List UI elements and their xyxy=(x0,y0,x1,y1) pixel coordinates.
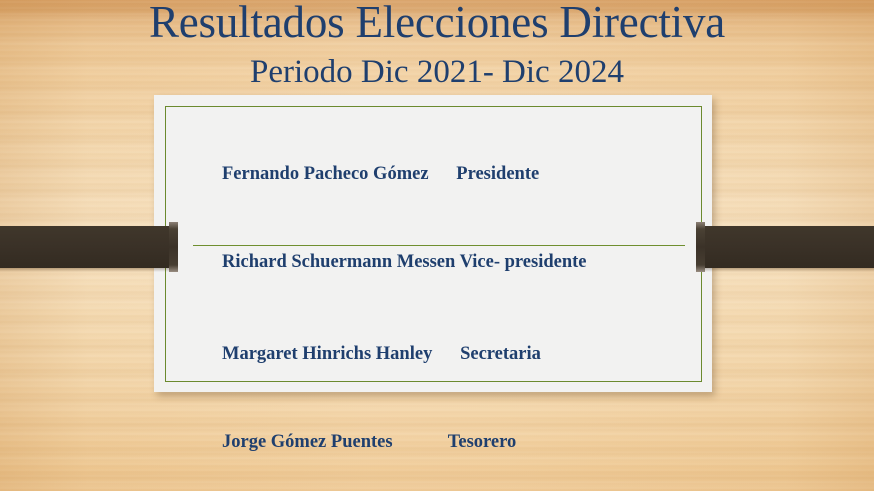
member-role: Secretaria xyxy=(460,344,541,364)
member-name: Richard Schuermann Messen xyxy=(222,252,455,272)
member-name: Jorge Gómez Puentes xyxy=(222,432,393,452)
member-name: Margaret Hinrichs Hanley xyxy=(222,344,432,364)
member-gap xyxy=(429,164,457,184)
list-item: Richard Schuermann Messen Vice- presiden… xyxy=(185,229,698,295)
member-name: Fernando Pacheco Gómez xyxy=(222,164,429,184)
member-gap xyxy=(393,432,448,452)
member-role: Vice- presidente xyxy=(460,252,587,272)
list-item: Jorge Gómez Puentes Tesorero xyxy=(185,409,698,475)
banner-bar-right xyxy=(704,226,874,268)
list-item: Fernando Pacheco Gómez Presidente xyxy=(185,141,698,207)
member-role: Presidente xyxy=(456,164,539,184)
banner-bar-right-shadow xyxy=(696,268,874,272)
banner-bar-right-cap xyxy=(696,222,705,272)
member-role: Tesorero xyxy=(448,432,517,452)
banner-bar-left-shadow xyxy=(0,268,178,272)
content-card: Fernando Pacheco Gómez Presidente Richar… xyxy=(154,95,712,392)
slide-title: Resultados Elecciones Directiva xyxy=(0,0,874,48)
presentation-slide: Resultados Elecciones Directiva Periodo … xyxy=(0,0,874,491)
banner-bar-left xyxy=(0,226,170,268)
banner-bar-left-cap xyxy=(169,222,178,272)
member-gap xyxy=(432,344,460,364)
slide-subtitle: Periodo Dic 2021- Dic 2024 xyxy=(0,52,874,92)
list-item: Margaret Hinrichs Hanley Secretaria xyxy=(185,321,698,387)
board-member-list: Fernando Pacheco Gómez Presidente Richar… xyxy=(185,141,698,491)
